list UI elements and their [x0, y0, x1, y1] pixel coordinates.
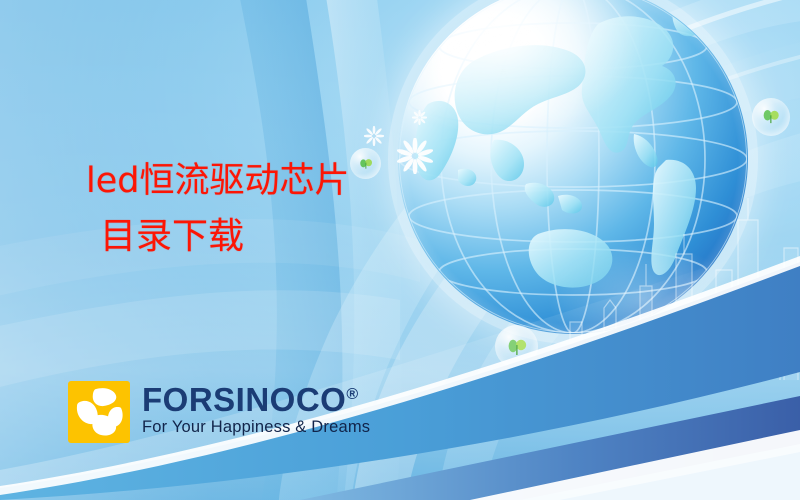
flower-sparkle-tiny: [412, 110, 427, 125]
four-petal-pinwheel-icon: [68, 381, 130, 443]
bubble-seedling-medium: [495, 325, 538, 368]
seedling-icon: [761, 107, 782, 128]
bubble-seedling-right: [752, 98, 790, 136]
logo-wordmark-text: FORSINOCO: [142, 381, 346, 418]
logo-text-block: FORSINOCO® For Your Happiness & Dreams: [142, 381, 370, 437]
city-skyline-silhouette: [560, 190, 800, 380]
headline-line-2: 目录下载: [86, 219, 416, 255]
logo-wordmark: FORSINOCO®: [142, 383, 370, 416]
logo-tagline: For Your Happiness & Dreams: [142, 418, 370, 437]
flower-sparkle-small: [364, 126, 384, 146]
seedling-icon: [505, 335, 529, 359]
logo-mark-pinwheel: [68, 381, 130, 443]
promo-banner: led恒流驱动芯片 目录下载 FORSINOCO® For Your Happi…: [0, 0, 800, 500]
headline-line-1: led恒流驱动芯片: [86, 164, 416, 199]
headline: led恒流驱动芯片 目录下载: [86, 164, 416, 255]
brand-logo: FORSINOCO® For Your Happiness & Dreams: [68, 381, 370, 443]
registered-trademark-symbol: ®: [346, 386, 358, 403]
